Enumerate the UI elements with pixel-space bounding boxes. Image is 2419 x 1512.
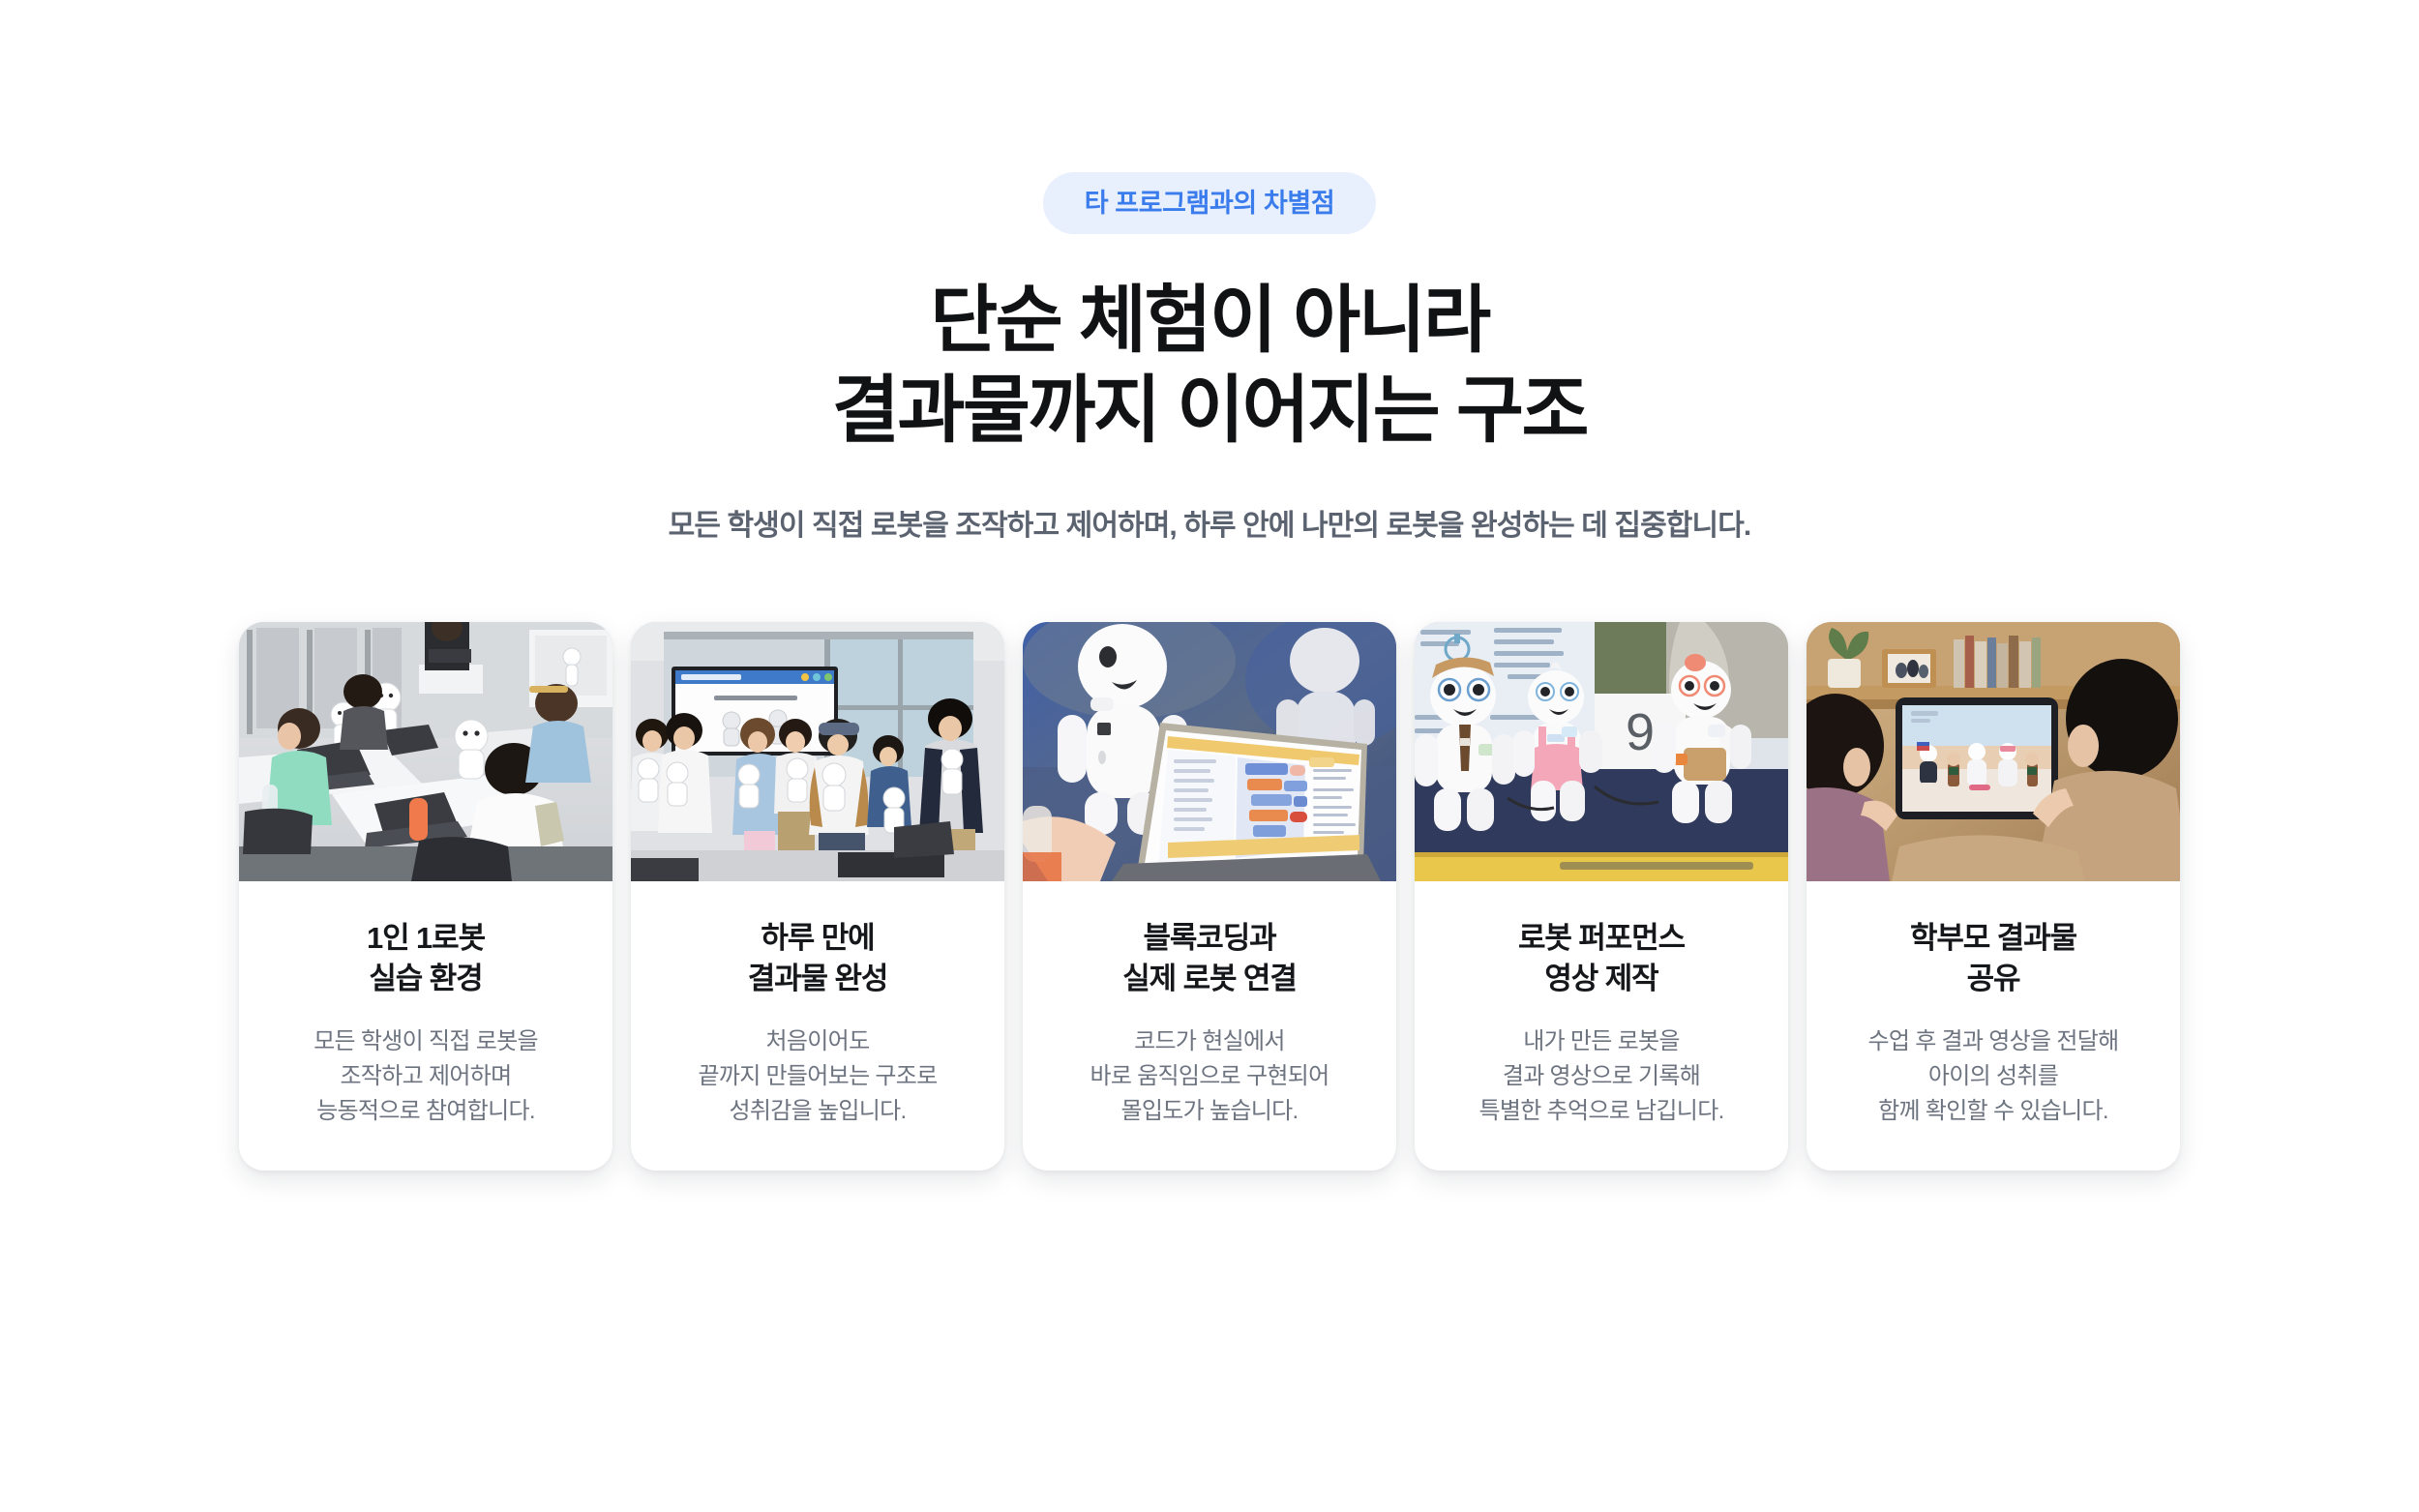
card-3-title-line-1: 블록코딩과 [1042,918,1377,959]
classroom-students-laptops-robots-photo [239,622,612,881]
headline-line-2: 결과물까지 이어지는 구조 [832,367,1587,457]
feature-card-1-robot-per-student[interactable]: 1인 1로봇 실습 환경 모든 학생이 직접 로봇을 조작하고 제어하며 능동적… [239,622,612,1170]
card-2-body: 하루 만에 결과물 완성 처음이어도 끝까지 만들어보는 구조로 성취감을 높입… [631,881,1004,1129]
card-5-desc-line-3: 함께 확인할 수 있습니다. [1826,1094,2161,1129]
card-1-desc-line-2: 조작하고 제어하며 [258,1059,593,1094]
card-1-title: 1인 1로봇 실습 환경 [258,918,593,998]
card-2-title-line-2: 결과물 완성 [650,959,985,999]
card-4-title-line-2: 영상 제작 [1434,959,1769,999]
section-subtitle: 모든 학생이 직접 로봇을 조작하고 제어하며, 하루 안에 나만의 로봇을 완… [669,506,1751,547]
card-2-description: 처음이어도 끝까지 만들어보는 구조로 성취감을 높입니다. [650,1024,985,1130]
card-1-desc-line-1: 모든 학생이 직접 로봇을 [258,1024,593,1059]
card-3-desc-line-3: 몰입도가 높습니다. [1042,1094,1377,1129]
card-3-description: 코드가 현실에서 바로 움직임으로 구현되어 몰입도가 높습니다. [1042,1024,1377,1130]
feature-card-3-block-coding[interactable]: 블록코딩과 실제 로봇 연결 코드가 현실에서 바로 움직임으로 구현되어 몰입… [1023,622,1396,1170]
section-badge: 타 프로그램과의 차별점 [1043,172,1377,234]
page-title: 단순 체험이 아니라 결과물까지 이어지는 구조 [832,277,1587,456]
card-5-desc-line-2: 아이의 성취를 [1826,1059,2161,1094]
card-3-body: 블록코딩과 실제 로봇 연결 코드가 현실에서 바로 움직임으로 구현되어 몰입… [1023,881,1396,1129]
parent-child-watching-tablet-video-photo [1807,622,2180,881]
card-5-title-line-2: 공유 [1826,959,2161,999]
card-3-title: 블록코딩과 실제 로봇 연결 [1042,918,1377,998]
laptop-block-coding-robot-photo [1023,622,1396,881]
card-1-description: 모든 학생이 직접 로봇을 조작하고 제어하며 능동적으로 참여합니다. [258,1024,593,1130]
card-1-desc-line-3: 능동적으로 참여합니다. [258,1094,593,1129]
svg-text:9: 9 [1626,703,1655,761]
feature-card-4-robot-performance[interactable]: 9 [1415,622,1788,1170]
card-2-desc-line-3: 성취감을 높입니다. [650,1094,985,1129]
card-3-desc-line-1: 코드가 현실에서 [1042,1024,1377,1059]
card-3-title-line-2: 실제 로봇 연결 [1042,959,1377,999]
feature-card-list: 1인 1로봇 실습 환경 모든 학생이 직접 로봇을 조작하고 제어하며 능동적… [239,622,2180,1170]
card-4-title: 로봇 퍼포먼스 영상 제작 [1434,918,1769,998]
card-5-body: 학부모 결과물 공유 수업 후 결과 영상을 전달해 아이의 성취를 함께 확인… [1807,881,2180,1129]
feature-card-5-parent-sharing[interactable]: 학부모 결과물 공유 수업 후 결과 영상을 전달해 아이의 성취를 함께 확인… [1807,622,2180,1170]
card-3-desc-line-2: 바로 움직임으로 구현되어 [1042,1059,1377,1094]
card-1-body: 1인 1로봇 실습 환경 모든 학생이 직접 로봇을 조작하고 제어하며 능동적… [239,881,612,1129]
card-4-description: 내가 만든 로봇을 결과 영상으로 기록해 특별한 추억으로 남깁니다. [1434,1024,1769,1130]
students-holding-robots-presentation-photo [631,622,1004,881]
card-2-desc-line-1: 처음이어도 [650,1024,985,1059]
differentiators-section: 타 프로그램과의 차별점 단순 체험이 아니라 결과물까지 이어지는 구조 모든… [0,0,2419,1512]
card-4-desc-line-2: 결과 영상으로 기록해 [1434,1059,1769,1094]
card-2-desc-line-2: 끝까지 만들어보는 구조로 [650,1059,985,1094]
feature-card-2-one-day-outcome[interactable]: 하루 만에 결과물 완성 처음이어도 끝까지 만들어보는 구조로 성취감을 높입… [631,622,1004,1170]
card-4-desc-line-3: 특별한 추억으로 남깁니다. [1434,1094,1769,1129]
card-1-title-line-1: 1인 1로봇 [258,918,593,959]
card-2-title-line-1: 하루 만에 [650,918,985,959]
card-1-title-line-2: 실습 환경 [258,959,593,999]
card-5-desc-line-1: 수업 후 결과 영상을 전달해 [1826,1024,2161,1059]
card-2-title: 하루 만에 결과물 완성 [650,918,985,998]
card-5-description: 수업 후 결과 영상을 전달해 아이의 성취를 함께 확인할 수 있습니다. [1826,1024,2161,1130]
card-4-body: 로봇 퍼포먼스 영상 제작 내가 만든 로봇을 결과 영상으로 기록해 특별한 … [1415,881,1788,1129]
card-5-title: 학부모 결과물 공유 [1826,918,2161,998]
card-4-desc-line-1: 내가 만든 로봇을 [1434,1024,1769,1059]
headline-line-1: 단순 체험이 아니라 [832,277,1587,367]
costumed-robots-performance-stage-photo: 9 [1415,622,1788,881]
card-5-title-line-1: 학부모 결과물 [1826,918,2161,959]
card-4-title-line-1: 로봇 퍼포먼스 [1434,918,1769,959]
